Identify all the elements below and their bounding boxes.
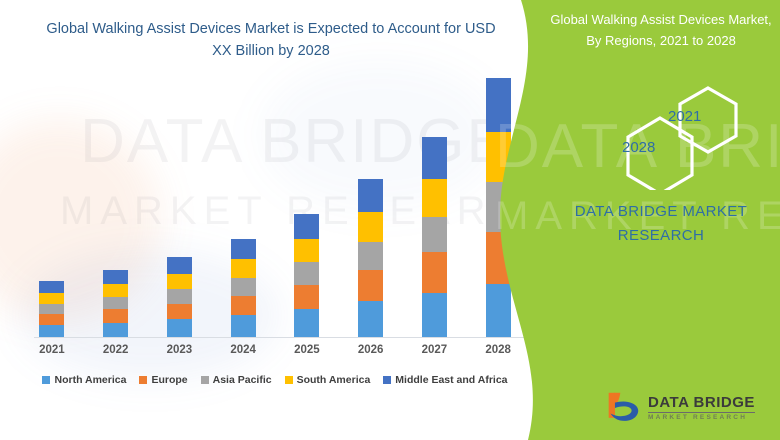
chart-title: Global Walking Assist Devices Market is … [36, 18, 506, 63]
legend-label: South America [297, 374, 371, 386]
bar-segment[interactable] [294, 285, 319, 309]
stacked-bar[interactable] [103, 270, 128, 337]
legend-swatch-icon [139, 376, 147, 384]
bar-segment[interactable] [39, 281, 64, 292]
stacked-bar[interactable] [422, 137, 447, 337]
infographic-canvas: DATA BRIDGE MARKET RESEARCH Global Walki… [0, 0, 780, 440]
x-axis-tick-label: 2027 [403, 344, 467, 356]
x-axis-tick-label: 2021 [20, 344, 84, 356]
logo-main-text: DATA BRIDGE [648, 395, 755, 410]
bar-segment[interactable] [231, 239, 256, 259]
brand-name-line-1: DATA BRIDGE MARKET [550, 200, 772, 224]
bar-segment[interactable] [486, 284, 511, 337]
bar-segment[interactable] [294, 239, 319, 262]
bar-slot [148, 70, 212, 337]
legend-swatch-icon [383, 376, 391, 384]
bar-segment[interactable] [103, 323, 128, 337]
bar-segment[interactable] [294, 262, 319, 284]
bar-segment[interactable] [422, 252, 447, 292]
legend-item[interactable]: Europe [139, 374, 187, 386]
x-axis-tick-label: 2025 [275, 344, 339, 356]
chart-plot-area [20, 70, 530, 338]
legend-label: North America [54, 374, 126, 386]
stacked-bar[interactable] [294, 214, 319, 337]
stacked-bar[interactable] [167, 257, 192, 337]
databridge-logo: DATA BRIDGE MARKET RESEARCH [605, 388, 765, 428]
bar-segment[interactable] [358, 212, 383, 242]
bar-slot [20, 70, 84, 337]
legend-swatch-icon [201, 376, 209, 384]
bar-segment[interactable] [103, 284, 128, 297]
bar-segment[interactable] [231, 278, 256, 296]
legend-swatch-icon [42, 376, 50, 384]
bar-segment[interactable] [167, 304, 192, 320]
green-panel-content: DATA BRIDGE MARKET RESEARCH Global Walki… [540, 0, 780, 440]
bar-segment[interactable] [358, 270, 383, 301]
bar-segment[interactable] [422, 293, 447, 338]
logo-divider [648, 412, 755, 413]
hexagon-badges: 2021 2028 [540, 80, 780, 190]
legend-item[interactable]: Middle East and Africa [383, 374, 507, 386]
stacked-bar[interactable] [231, 239, 256, 337]
brand-name-line-2: RESEARCH [550, 224, 772, 248]
bar-segment[interactable] [39, 293, 64, 304]
x-axis-tick-label: 2022 [84, 344, 148, 356]
bar-segment[interactable] [231, 296, 256, 315]
bar-segment[interactable] [422, 217, 447, 253]
bar-segment[interactable] [167, 274, 192, 290]
bar-slot [84, 70, 148, 337]
bar-segment[interactable] [103, 270, 128, 283]
logo-text: DATA BRIDGE MARKET RESEARCH [648, 395, 755, 422]
legend-swatch-icon [285, 376, 293, 384]
legend-item[interactable]: North America [42, 374, 126, 386]
legend-label: Europe [151, 374, 187, 386]
bar-segment[interactable] [358, 242, 383, 270]
bar-group [20, 70, 530, 337]
bar-segment[interactable] [294, 214, 319, 240]
hexagon-icons [540, 80, 780, 190]
bar-slot [275, 70, 339, 337]
databridge-b-mark-icon [605, 391, 641, 425]
bar-segment[interactable] [422, 179, 447, 217]
x-axis-tick-label: 2023 [148, 344, 212, 356]
x-axis-labels: 20212022202320242025202620272028 [20, 344, 530, 356]
bar-segment[interactable] [39, 304, 64, 314]
legend-item[interactable]: South America [285, 374, 371, 386]
bar-segment[interactable] [103, 309, 128, 322]
bar-segment[interactable] [167, 289, 192, 303]
panel-title: Global Walking Assist Devices Market, By… [546, 10, 776, 52]
bar-segment[interactable] [167, 319, 192, 337]
bar-slot [339, 70, 403, 337]
legend-label: Middle East and Africa [395, 374, 507, 386]
bar-segment[interactable] [103, 297, 128, 309]
x-axis-tick-label: 2024 [211, 344, 275, 356]
bar-segment[interactable] [358, 179, 383, 212]
bar-segment[interactable] [358, 301, 383, 337]
hexagon-2028-label: 2028 [622, 139, 655, 156]
bar-slot [211, 70, 275, 337]
logo-sub-text: MARKET RESEARCH [648, 415, 755, 422]
bar-segment[interactable] [231, 259, 256, 278]
legend-item[interactable]: Asia Pacific [201, 374, 272, 386]
hexagon-2021-label: 2021 [668, 108, 701, 125]
stacked-bar[interactable] [358, 179, 383, 337]
chart-legend: North AmericaEuropeAsia PacificSouth Ame… [20, 374, 530, 386]
brand-name: DATA BRIDGE MARKET RESEARCH [550, 200, 772, 248]
bar-slot [403, 70, 467, 337]
x-axis-tick-label: 2026 [339, 344, 403, 356]
legend-label: Asia Pacific [213, 374, 272, 386]
bar-segment[interactable] [231, 315, 256, 337]
bar-segment[interactable] [39, 325, 64, 337]
bar-segment[interactable] [167, 257, 192, 274]
bar-segment[interactable] [39, 314, 64, 325]
bar-segment[interactable] [422, 137, 447, 179]
bar-segment[interactable] [294, 309, 319, 337]
x-axis-line [34, 337, 530, 338]
stacked-bar[interactable] [39, 281, 64, 337]
x-axis-tick-label: 2028 [466, 344, 530, 356]
